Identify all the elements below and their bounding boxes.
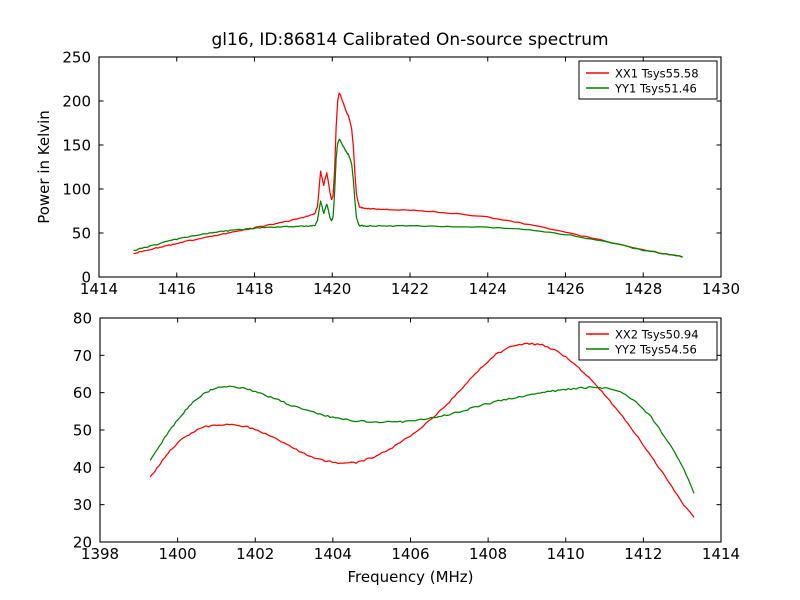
x-tick-label: 1422 — [391, 280, 429, 298]
figure-canvas: 1414141614181420142214241426142814300501… — [0, 0, 800, 600]
y-tick-label: 70 — [73, 347, 92, 365]
legend-label: YY1 Tsys51.46 — [614, 82, 697, 96]
x-tick-label: 1412 — [624, 545, 662, 563]
y-tick-label: 80 — [73, 310, 92, 328]
x-tick-label: 1406 — [391, 545, 429, 563]
y-tick-label: 100 — [62, 181, 91, 199]
y-axis-title: Power in Kelvin — [35, 110, 53, 224]
x-tick-label: 1414 — [702, 545, 740, 563]
spectrum-figure: 1414141614181420142214241426142814300501… — [0, 0, 800, 600]
x-tick-label: 1408 — [469, 545, 507, 563]
y-tick-label: 60 — [73, 384, 92, 402]
x-tick-label: 1426 — [546, 280, 584, 298]
y-tick-label: 20 — [73, 534, 92, 552]
x-tick-label: 1430 — [702, 280, 740, 298]
panel-top-panel: 1414141614181420142214241426142814300501… — [62, 49, 740, 299]
y-tick-label: 200 — [62, 93, 91, 111]
x-tick-label: 1424 — [469, 280, 507, 298]
x-tick-label: 1410 — [547, 545, 585, 563]
x-tick-label: 1416 — [158, 280, 196, 298]
legend-label: XX1 Tsys55.58 — [615, 67, 699, 81]
y-tick-label: 30 — [73, 496, 92, 514]
y-tick-label: 150 — [62, 137, 91, 155]
x-tick-label: 1428 — [624, 280, 662, 298]
x-tick-label: 1404 — [314, 545, 352, 563]
x-tick-label: 1420 — [313, 280, 351, 298]
legend-label: XX2 Tsys50.94 — [615, 328, 699, 342]
panel-bottom-panel: 1398140014021404140614081410141214142030… — [73, 310, 740, 564]
y-tick-label: 0 — [81, 269, 91, 287]
y-tick-label: 50 — [73, 422, 92, 440]
x-tick-label: 1400 — [159, 545, 197, 563]
x-axis-title: Frequency (MHz) — [347, 568, 473, 586]
y-tick-label: 50 — [72, 225, 91, 243]
x-tick-label: 1418 — [235, 280, 273, 298]
page-title: gl16, ID:86814 Calibrated On-source spec… — [211, 30, 608, 50]
x-tick-label: 1402 — [236, 545, 274, 563]
y-tick-label: 40 — [73, 459, 92, 477]
y-tick-label: 250 — [62, 49, 91, 67]
legend-label: YY2 Tsys54.56 — [614, 343, 697, 357]
